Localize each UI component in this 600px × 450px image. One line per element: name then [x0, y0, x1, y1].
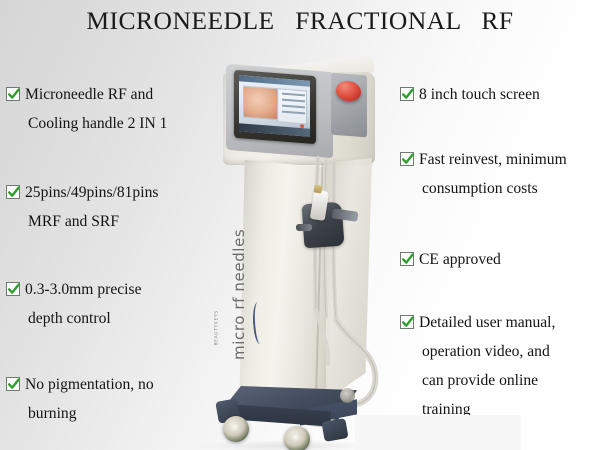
feature-line: can provide online	[400, 366, 600, 395]
feature-line: Fast reinvest, minimum	[400, 145, 600, 174]
feature-text: 0.3-3.0mm precise	[25, 281, 142, 298]
feature-line: operation video, and	[400, 337, 600, 366]
feature-item: Microneedle RF and Cooling handle 2 IN 1	[6, 80, 211, 138]
microneedle-rf-machine-image: BEAUTYKEYS micro rf needles	[190, 48, 405, 450]
feature-item: No pigmentation, no burning	[6, 370, 211, 428]
handpiece-tip	[313, 184, 322, 193]
feature-item: 0.3-3.0mm precise depth control	[6, 275, 211, 333]
feature-text: Fast reinvest, minimum	[419, 151, 567, 168]
feature-line: consumption costs	[400, 174, 600, 203]
checkmark-icon	[400, 315, 414, 329]
product-poster: MICRONEEDLE FRACTIONAL RF BEAUTYKEYS mic…	[0, 0, 600, 450]
feature-line: No pigmentation, no	[6, 370, 211, 399]
caster-hub-left	[230, 423, 241, 434]
feature-text: 25pins/49pins/81pins	[25, 184, 158, 201]
feature-text: Detailed user manual,	[419, 314, 555, 331]
page-title: MICRONEEDLE FRACTIONAL RF	[0, 6, 600, 36]
feature-item: 8 inch touch screen	[400, 80, 600, 109]
checkmark-icon	[400, 87, 414, 101]
feature-text: Microneedle RF and	[25, 86, 153, 103]
feature-line: Microneedle RF and	[6, 80, 211, 109]
feature-line: 25pins/49pins/81pins	[6, 178, 211, 207]
feature-line: depth control	[6, 304, 211, 333]
feature-item: 25pins/49pins/81pins MRF and SRF	[6, 178, 211, 236]
checkmark-icon	[6, 185, 20, 199]
caster-wheel-rear	[340, 388, 355, 403]
feature-line: Cooling handle 2 IN 1	[6, 109, 211, 138]
feature-item: Detailed user manual, operation video, a…	[400, 308, 600, 424]
feature-line: MRF and SRF	[6, 207, 211, 236]
feature-line: Detailed user manual,	[400, 308, 600, 337]
checkmark-icon	[400, 252, 414, 266]
feature-text: 8 inch touch screen	[419, 86, 540, 103]
feature-text: CE approved	[419, 251, 501, 268]
feature-line: 8 inch touch screen	[400, 80, 600, 109]
feature-item: CE approved	[400, 245, 600, 274]
trolley-foot-right	[321, 418, 348, 442]
feature-item: Fast reinvest, minimum consumption costs	[400, 145, 600, 203]
feature-text: No pigmentation, no	[25, 376, 154, 393]
caster-hub-front	[291, 433, 302, 444]
bottom-overlay-block	[355, 415, 521, 450]
checkmark-icon	[400, 152, 414, 166]
checkmark-icon	[6, 282, 20, 296]
feature-line: burning	[6, 399, 211, 428]
checkmark-icon	[6, 87, 20, 101]
checkmark-icon	[6, 377, 20, 391]
feature-line: 0.3-3.0mm precise	[6, 275, 211, 304]
feature-line: CE approved	[400, 245, 600, 274]
holster-mount	[296, 224, 312, 231]
